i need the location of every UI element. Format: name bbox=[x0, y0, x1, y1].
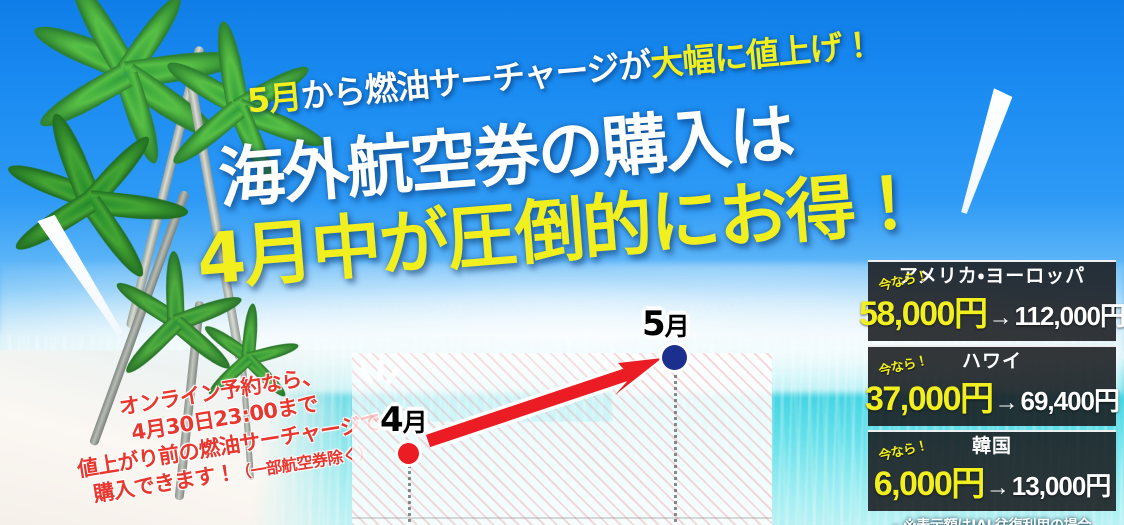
price-new-value: 69,400 bbox=[1020, 386, 1094, 417]
price-box-hawaii: ハワイ 今なら！ 37,000 円 → 69,400 円 bbox=[868, 345, 1116, 426]
chart-label-april: 4月 bbox=[380, 400, 427, 440]
price-arrow-icon: → bbox=[986, 304, 1014, 332]
price-current-yen: 円 bbox=[951, 456, 984, 505]
chart-label-may: 5月 bbox=[642, 304, 689, 344]
palm-tree-group bbox=[0, 0, 330, 525]
price-comparison-panel: アメリカ・ヨーロッパ 今なら！ 58,000 円 → 112,000 円 ハワイ… bbox=[868, 260, 1116, 525]
price-current-yen: 円 bbox=[960, 371, 993, 420]
footnote-dash: ‐ bbox=[893, 518, 899, 525]
price-current-value: 58,000 bbox=[859, 295, 954, 334]
price-new-yen: 円 bbox=[1094, 381, 1119, 418]
price-row: 今なら！ 58,000 円 → 112,000 円 bbox=[874, 286, 1110, 335]
price-box-korea: 韓国 今なら！ 6,000 円 → 13,000 円 bbox=[868, 430, 1116, 511]
chart-marker-april bbox=[398, 443, 419, 464]
chart-label-may-number: 5 bbox=[642, 304, 665, 344]
price-current-yen: 円 bbox=[954, 286, 987, 335]
price-row: 今なら！ 37,000 円 → 69,400 円 bbox=[874, 371, 1110, 420]
price-footnote: ‐ ※表示額はJAL往復利用の場合 bbox=[868, 515, 1116, 525]
chart-label-april-number: 4 bbox=[380, 400, 403, 440]
price-current-value: 37,000 bbox=[865, 380, 960, 419]
price-arrow-icon: → bbox=[992, 389, 1020, 417]
price-current-value: 6,000 bbox=[874, 465, 952, 504]
price-new-yen: 円 bbox=[1085, 466, 1110, 503]
palm-tree bbox=[196, 330, 306, 480]
promo-banner: 5月から燃油サーチャージが大幅に値上げ！ 海外航空券の購入は 4月中が圧倒的にお… bbox=[0, 0, 1124, 525]
sparkle-burst-icon bbox=[358, 360, 404, 404]
price-new-value: 13,000 bbox=[1012, 471, 1086, 502]
chart-marker-may bbox=[662, 345, 687, 370]
chart-label-may-suffix: 月 bbox=[665, 312, 689, 341]
surcharge-increase-chart: 4月 5月 bbox=[352, 300, 772, 525]
price-new-yen: 円 bbox=[1100, 296, 1124, 333]
footnote-text: ※表示額はJAL往復利用の場合 bbox=[903, 518, 1091, 525]
price-new-value: 112,000 bbox=[1014, 301, 1100, 332]
palm-frond bbox=[34, 64, 132, 135]
price-box-america-europe: アメリカ・ヨーロッパ 今なら！ 58,000 円 → 112,000 円 bbox=[868, 260, 1116, 341]
palm-frond bbox=[121, 317, 182, 378]
price-row: 今なら！ 6,000 円 → 13,000 円 bbox=[874, 456, 1110, 505]
chart-label-april-suffix: 月 bbox=[403, 408, 427, 437]
price-arrow-icon: → bbox=[984, 474, 1012, 502]
